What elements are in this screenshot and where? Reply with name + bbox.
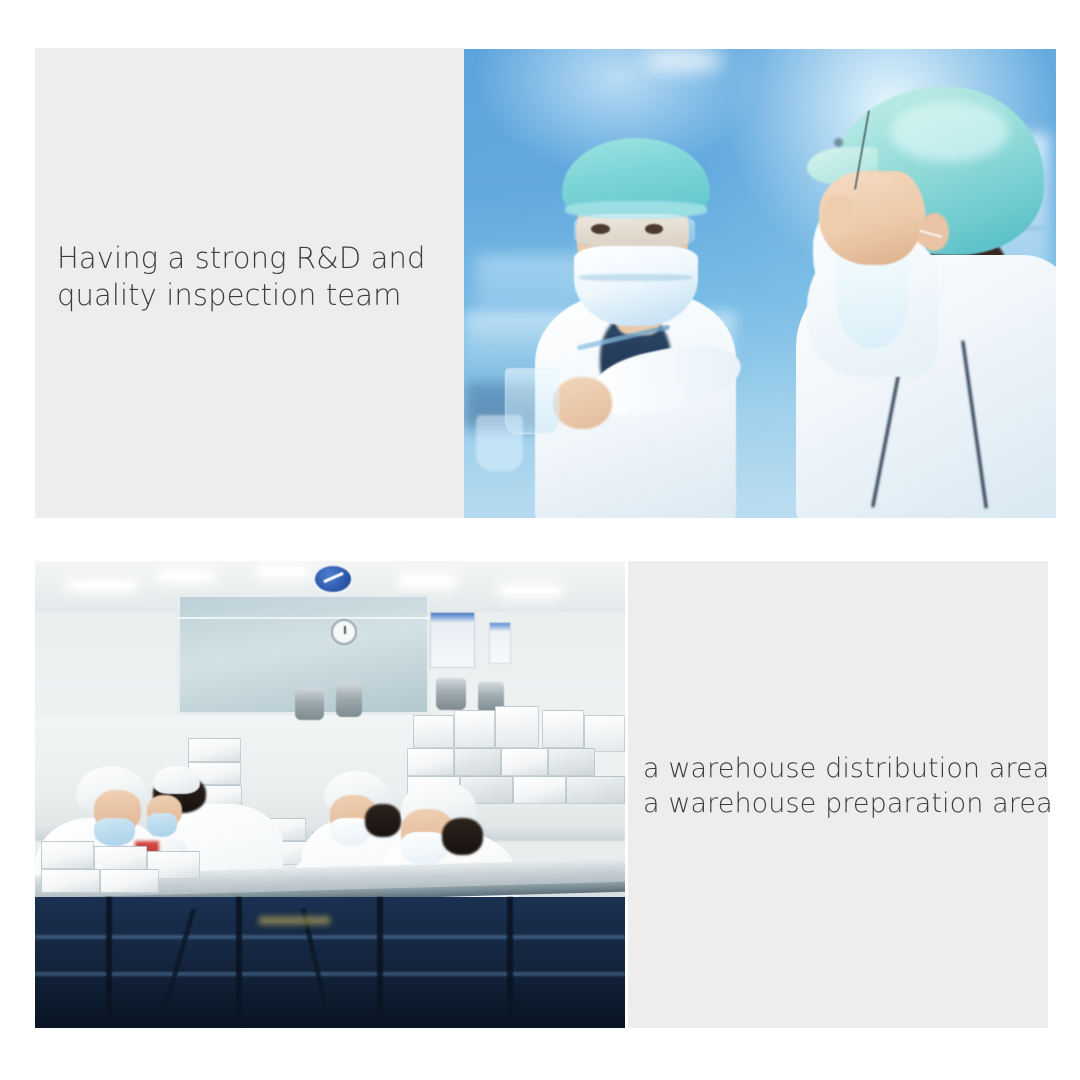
bottom-caption: a warehouse distribution area a warehous… bbox=[643, 751, 1048, 821]
carton-stack-item bbox=[413, 715, 454, 748]
worker-left-mask-fold bbox=[579, 274, 691, 281]
table-under-shelving bbox=[35, 897, 625, 1028]
shelf-rail-2 bbox=[35, 972, 625, 976]
ceiling-light-icon-2 bbox=[159, 573, 212, 580]
carton-stack-item bbox=[542, 710, 583, 747]
top-caption: Having a strong R&D and quality inspecti… bbox=[57, 240, 457, 314]
table-leg-1 bbox=[106, 897, 112, 1028]
floor-reflection-glow bbox=[259, 916, 330, 925]
worker-4-face-mask bbox=[401, 832, 448, 865]
carton-stack-item bbox=[454, 748, 501, 776]
worker-3-hair bbox=[365, 804, 400, 837]
blue-circular-sign-icon bbox=[312, 563, 354, 595]
table-leg-3 bbox=[377, 897, 383, 1028]
carton-foreground-item bbox=[41, 869, 100, 892]
lab-glassware-left bbox=[476, 415, 523, 471]
worker-4-hair bbox=[442, 818, 483, 855]
wall-notice-poster-2 bbox=[489, 622, 510, 664]
bottom-caption-line-2: a warehouse preparation area bbox=[643, 786, 1048, 821]
bottom-text-panel: a warehouse distribution area a warehous… bbox=[628, 561, 1048, 1028]
wall-notice-poster-1 bbox=[430, 612, 474, 668]
carton-stack-item bbox=[501, 748, 548, 776]
worker-left-hand bbox=[553, 377, 612, 429]
worker-2-hairnet bbox=[153, 766, 200, 794]
warehouse-scene bbox=[35, 561, 625, 1028]
steel-container-3 bbox=[436, 678, 466, 711]
carton-stack-item bbox=[548, 748, 595, 776]
steel-container-1 bbox=[295, 687, 325, 720]
rd-quality-inspection-lab-photo bbox=[464, 49, 1056, 518]
worker-left-face-mask bbox=[574, 246, 698, 326]
carton-stack-item bbox=[513, 776, 566, 804]
warehouse-window-rail bbox=[177, 617, 431, 619]
bottom-caption-line-1: a warehouse distribution area bbox=[643, 751, 1048, 786]
carton-foreground-item bbox=[41, 841, 94, 869]
top-caption-line-2: quality inspection team bbox=[57, 277, 457, 314]
lab-scene bbox=[464, 49, 1056, 518]
carton-stack-item bbox=[566, 776, 625, 804]
worker-center-thumb bbox=[822, 194, 855, 236]
worker-1-face-mask bbox=[94, 818, 135, 846]
carton-stack-item bbox=[584, 715, 625, 752]
worker-2-face-mask bbox=[147, 813, 177, 836]
table-leg-4 bbox=[507, 897, 513, 1028]
ceiling-light-icon-5 bbox=[501, 587, 560, 594]
ceiling-light-icon-1 bbox=[70, 582, 135, 589]
top-caption-line-1: Having a strong R&D and bbox=[57, 240, 457, 277]
carton-stack-item bbox=[454, 710, 495, 747]
carton-stack-item bbox=[495, 706, 539, 748]
table-leg-2 bbox=[236, 897, 242, 1028]
carton-stack-item bbox=[407, 748, 454, 776]
shelf-rail-1 bbox=[35, 935, 625, 939]
bottom-section: a warehouse distribution area a warehous… bbox=[35, 561, 1048, 1028]
top-text-panel: Having a strong R&D and quality inspecti… bbox=[35, 48, 464, 518]
top-section: Having a strong R&D and quality inspecti… bbox=[35, 48, 1056, 518]
ceiling-light-icon-4 bbox=[401, 577, 454, 584]
carton-foreground-item bbox=[100, 869, 159, 892]
ceiling-light-icon-3 bbox=[259, 568, 306, 575]
worker-right-hairnet-highlight bbox=[890, 101, 1008, 162]
carton-stack-item bbox=[188, 738, 241, 761]
product-detail-image: Having a strong R&D and quality inspecti… bbox=[0, 0, 1080, 1080]
warehouse-packing-area-photo bbox=[35, 561, 625, 1028]
steel-container-2 bbox=[336, 682, 363, 717]
